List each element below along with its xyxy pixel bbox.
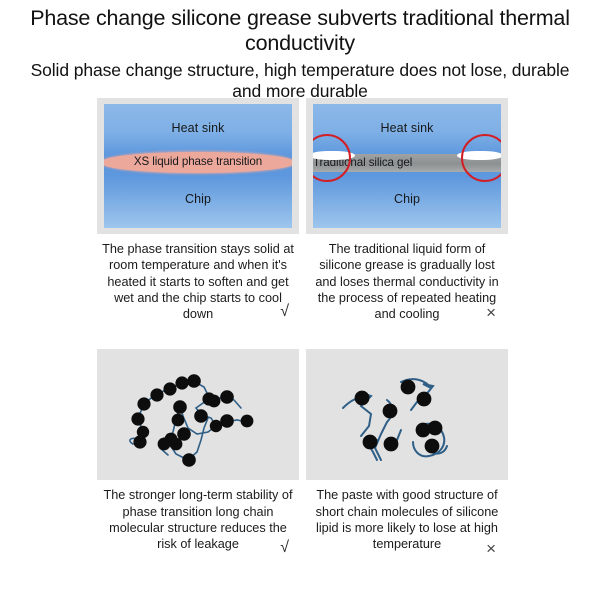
figure-phase-change-stack: Heat sink XS liquid phase transition Chi… bbox=[97, 98, 299, 234]
cross-icon: × bbox=[486, 304, 496, 321]
short-chain-molecule-diagram bbox=[313, 356, 501, 473]
caption-traditional-silica: The traditional liquid form of silicone … bbox=[306, 234, 508, 328]
highlight-circle-right-icon bbox=[461, 134, 501, 182]
long-chain-molecule-diagram bbox=[104, 356, 292, 473]
highlight-circle-left-icon bbox=[313, 134, 351, 182]
chip-label: Chip bbox=[313, 192, 501, 206]
figure-traditional-silica-stack: Heat sink Traditional silica gel Chip bbox=[306, 98, 508, 234]
figure-long-chain-molecule bbox=[97, 349, 299, 480]
chip-label: Chip bbox=[104, 192, 292, 206]
caption-text: The phase transition stays solid at room… bbox=[101, 241, 295, 322]
caption-text: The stronger long-term stability of phas… bbox=[101, 487, 295, 552]
card-phase-change: Heat sink XS liquid phase transition Chi… bbox=[97, 98, 299, 328]
cross-icon: × bbox=[486, 540, 496, 557]
card-grid: Heat sink XS liquid phase transition Chi… bbox=[97, 98, 509, 564]
caption-text: The traditional liquid form of silicone … bbox=[310, 241, 504, 322]
phase-transition-label: XS liquid phase transition bbox=[104, 155, 292, 168]
card-row-top: Heat sink XS liquid phase transition Chi… bbox=[97, 98, 509, 328]
chip-stack-diagram: Heat sink XS liquid phase transition Chi… bbox=[104, 104, 292, 228]
check-icon: √ bbox=[280, 304, 289, 320]
chip-stack-diagram: Heat sink Traditional silica gel Chip bbox=[313, 104, 501, 228]
heading-block: Phase change silicone grease subverts tr… bbox=[0, 0, 600, 102]
page-subtitle: Solid phase change structure, high tempe… bbox=[18, 60, 582, 102]
caption-long-chain: The stronger long-term stability of phas… bbox=[97, 480, 299, 564]
card-row-bottom: The stronger long-term stability of phas… bbox=[97, 349, 509, 564]
caption-phase-change: The phase transition stays solid at room… bbox=[97, 234, 299, 328]
row-spacer bbox=[97, 328, 509, 349]
card-traditional-silica: Heat sink Traditional silica gel Chip Th… bbox=[306, 98, 508, 328]
heat-sink-label: Heat sink bbox=[104, 121, 292, 135]
page-title: Phase change silicone grease subverts tr… bbox=[18, 6, 582, 56]
figure-short-chain-molecule bbox=[306, 349, 508, 480]
card-long-chain: The stronger long-term stability of phas… bbox=[97, 349, 299, 564]
phase-transition-band: XS liquid phase transition bbox=[104, 152, 292, 173]
caption-text: The paste with good structure of short c… bbox=[310, 487, 504, 552]
infographic-page: Phase change silicone grease subverts tr… bbox=[0, 0, 600, 600]
card-short-chain: The paste with good structure of short c… bbox=[306, 349, 508, 564]
check-icon: √ bbox=[280, 540, 289, 556]
caption-short-chain: The paste with good structure of short c… bbox=[306, 480, 508, 564]
heat-sink-label: Heat sink bbox=[313, 121, 501, 135]
